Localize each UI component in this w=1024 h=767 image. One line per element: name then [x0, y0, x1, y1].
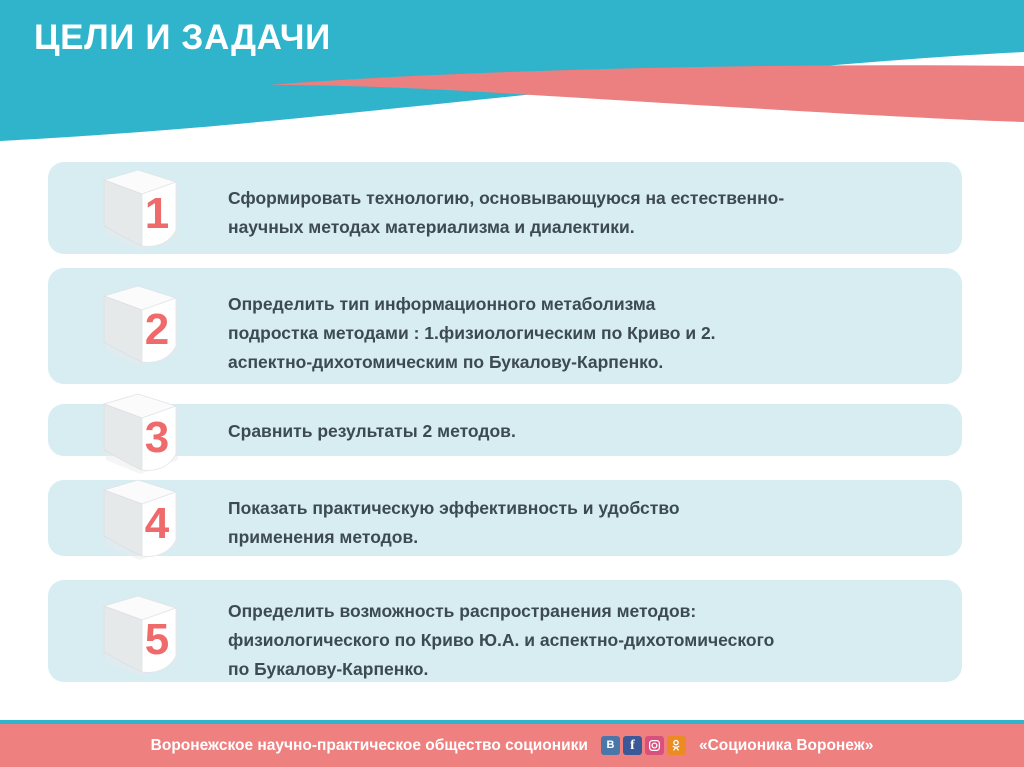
goal-text-line: Определить возможность распространения м…	[228, 597, 958, 626]
cube-number: 5	[145, 615, 169, 664]
slide-header: ЦЕЛИ И ЗАДАЧИ	[0, 0, 1024, 152]
cube-icon: 4	[94, 476, 186, 568]
cube-icon: 1	[94, 166, 186, 258]
goal-text-line: Показать практическую эффективность и уд…	[228, 494, 958, 523]
goal-text: Определить тип информационного метаболиз…	[228, 290, 958, 377]
cube-number: 4	[145, 499, 170, 548]
footer-right-text: «Соционика Воронеж»	[699, 737, 873, 755]
goal-text-line: Определить тип информационного метаболиз…	[228, 290, 958, 319]
list-item: 5 Определить возможность распространения…	[48, 580, 962, 692]
cube-number: 1	[145, 189, 169, 238]
cube-number: 2	[145, 305, 169, 354]
slide-footer: Воронежское научно-практическое общество…	[0, 720, 1024, 767]
goal-text: Определить возможность распространения м…	[228, 597, 958, 684]
list-item: 4 Показать практическую эффективность и …	[48, 480, 962, 576]
goal-text: Сравнить результаты 2 методов.	[228, 417, 958, 446]
list-item: 2 Определить тип информационного метабол…	[48, 268, 962, 388]
cube-icon: 5	[94, 592, 186, 684]
goal-text-line: подростка методами : 1.физиологическим п…	[228, 319, 958, 348]
odnoklassniki-icon[interactable]	[667, 736, 686, 755]
goal-text-line: Сформировать технологию, основывающуюся …	[228, 184, 958, 213]
social-icons: В f	[601, 736, 686, 755]
goal-text: Показать практическую эффективность и уд…	[228, 494, 958, 552]
footer-content: Воронежское научно-практическое общество…	[0, 724, 1024, 767]
cube-number: 3	[145, 413, 169, 462]
goal-text-line: применения методов.	[228, 523, 958, 552]
goal-text-line: Сравнить результаты 2 методов.	[228, 417, 958, 446]
goal-text-line: по Букалову-Карпенко.	[228, 655, 958, 684]
page-title: ЦЕЛИ И ЗАДАЧИ	[34, 17, 331, 59]
goal-text-line: научных методах материализма и диалектик…	[228, 213, 958, 242]
list-item: 1 Сформировать технологию, основывающуюс…	[48, 162, 962, 262]
footer-left-text: Воронежское научно-практическое общество…	[151, 737, 588, 755]
instagram-icon[interactable]	[645, 736, 664, 755]
cube-icon: 2	[94, 282, 186, 374]
list-item: 3 Сравнить результаты 2 методов.	[48, 404, 962, 476]
goal-text-line: аспектно-дихотомическим по Букалову-Карп…	[228, 348, 958, 377]
goals-list: 1 Сформировать технологию, основывающуюс…	[0, 152, 1024, 712]
vk-icon[interactable]: В	[601, 736, 620, 755]
facebook-icon[interactable]: f	[623, 736, 642, 755]
goal-text: Сформировать технологию, основывающуюся …	[228, 184, 958, 242]
cube-icon: 3	[94, 390, 186, 482]
goal-text-line: физиологического по Криво Ю.А. и аспектн…	[228, 626, 958, 655]
